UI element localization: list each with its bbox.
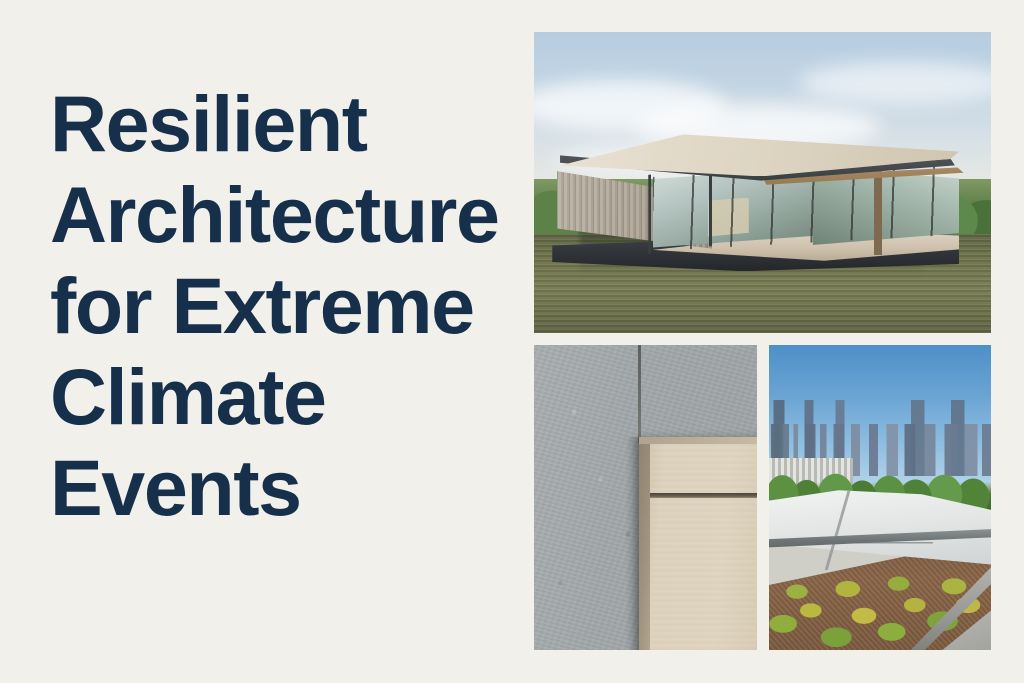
sliding-door-frame	[648, 161, 712, 257]
panel-return-edge	[639, 437, 651, 651]
vertical-joint	[638, 345, 642, 443]
image-green-roof-skyline	[769, 345, 991, 650]
headline-line-4: Climate	[50, 351, 550, 442]
page-title: Resilient Architecture for Extreme Clima…	[50, 78, 550, 533]
panel-shadow-groove	[650, 493, 757, 498]
stone-cladding-panel	[639, 437, 757, 651]
headline-line-1: Resilient	[50, 78, 550, 169]
headline-line-3: for Extreme	[50, 260, 550, 351]
image-facade-panel-detail	[534, 345, 757, 650]
poster-canvas: Resilient Architecture for Extreme Clima…	[0, 0, 1024, 683]
headline-line-5: Events	[50, 442, 550, 533]
headline-line-2: Architecture	[50, 169, 550, 260]
image-floating-house-on-water	[534, 32, 991, 333]
panel-top-edge	[639, 437, 757, 444]
